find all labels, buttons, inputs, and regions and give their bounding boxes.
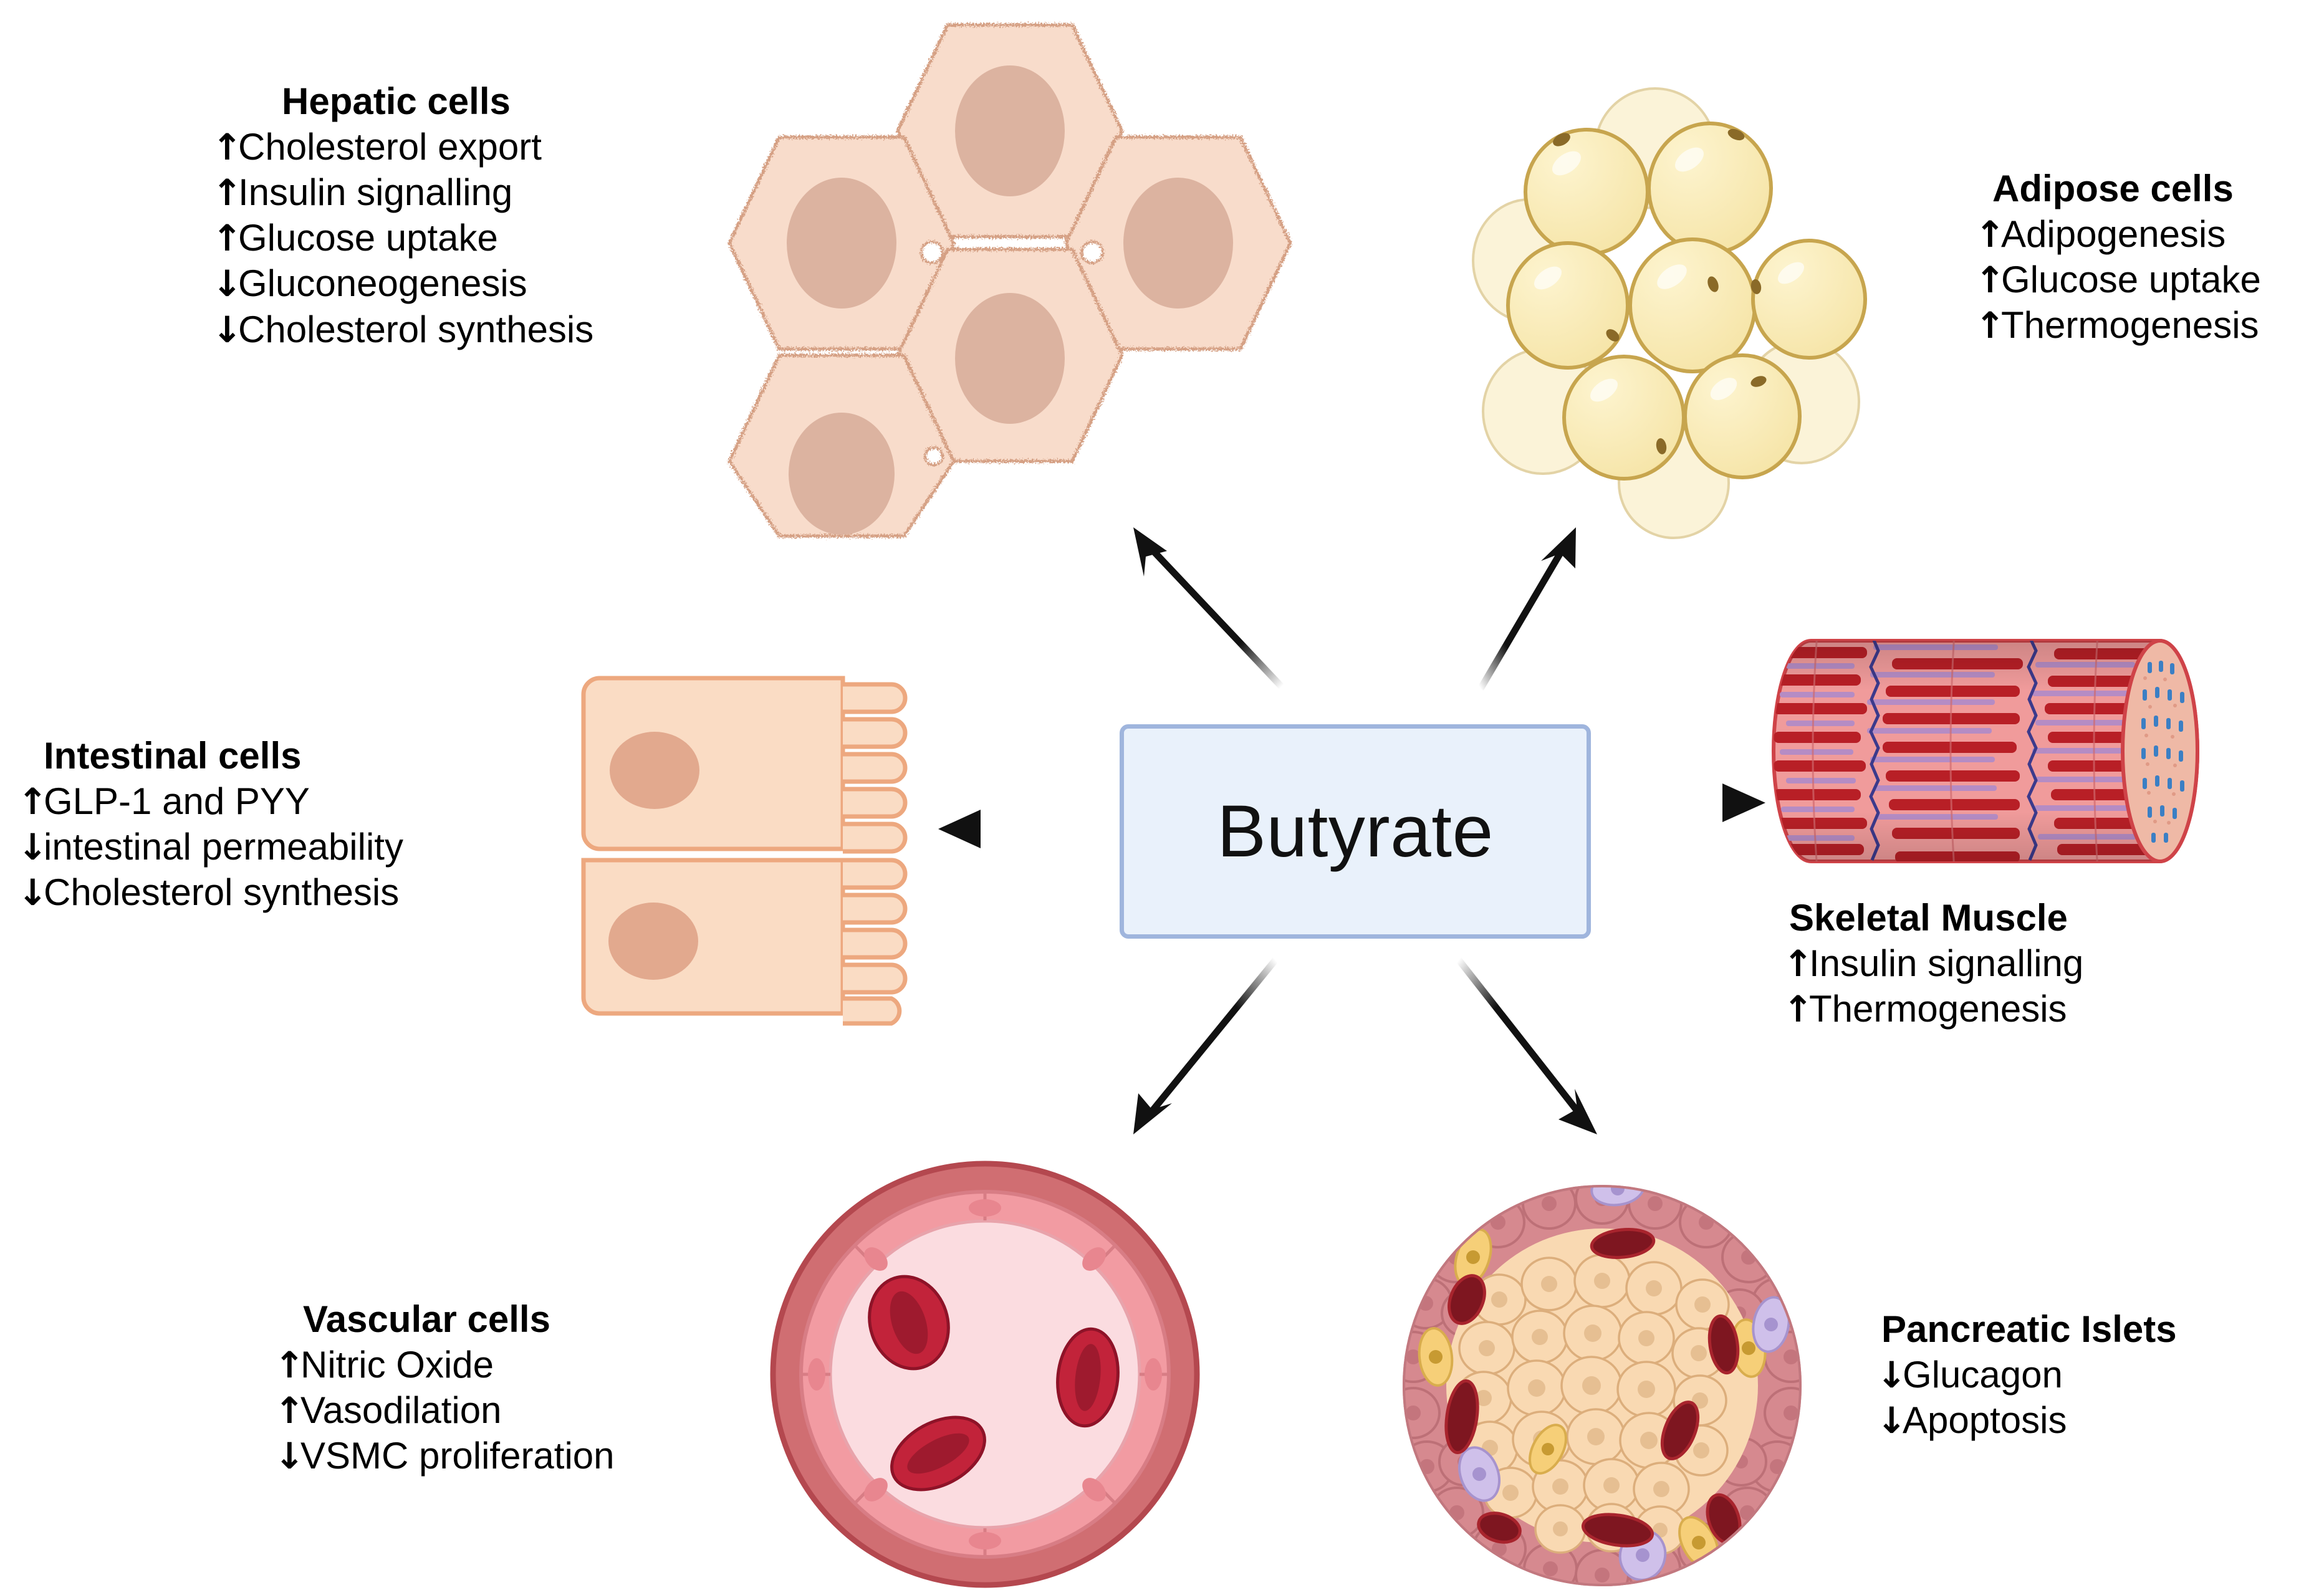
skeletal-item-1: ↑Thermogenesis (1783, 986, 2083, 1032)
arrow-up-icon: ↑ (1975, 262, 2001, 298)
adipose-item-2: ↑Thermogenesis (1975, 302, 2261, 348)
intestinal-item-1-label: intestinal permeability (44, 824, 403, 869)
hepatocytes-illustration (698, 12, 1359, 536)
adipose-item-1: ↑Glucose uptake (1975, 257, 2261, 302)
intestinal-item-2-label: Cholesterol synthesis (44, 869, 399, 915)
pancreatic-item-0: ↓Glucagon (1876, 1352, 2177, 1397)
muscle-fiber-illustration (1774, 630, 2222, 873)
vascular-item-1: ↑Vasodilation (274, 1387, 615, 1433)
arrow-up-icon: ↑ (1975, 216, 2001, 252)
panel-intestinal: Intestinal cells ↑GLP-1 and PYY ↓intesti… (17, 734, 403, 915)
pancreatic-item-1-label: Apoptosis (1903, 1397, 2067, 1443)
butyrate-label: Butyrate (1217, 789, 1493, 874)
arrow-up-icon: ↑ (1783, 946, 1809, 982)
vascular-item-0: ↑Nitric Oxide (274, 1342, 615, 1387)
arrow-down-icon: ↓ (212, 312, 238, 348)
intestinal-item-1: ↓intestinal permeability (17, 824, 403, 869)
hepatic-item-0: ↑Cholesterol export (212, 124, 593, 170)
arrow-down-icon: ↓ (17, 829, 44, 865)
adipocytes-illustration (1474, 100, 1898, 511)
arrow-to-hepatic (1133, 527, 1282, 687)
vascular-item-2: ↓VSMC proliferation (274, 1433, 615, 1478)
arrow-up-icon: ↑ (274, 1392, 300, 1429)
panel-vascular: Vascular cells ↑Nitric Oxide ↑Vasodilati… (274, 1298, 615, 1478)
arrow-down-icon: ↓ (1876, 1402, 1903, 1439)
arrow-up-icon: ↑ (212, 220, 238, 256)
pancreatic-islet-illustration (1400, 1181, 1805, 1589)
adipose-item-0-label: Adipogenesis (2001, 211, 2226, 257)
panel-skeletal: Skeletal Muscle ↑Insulin signalling ↑The… (1783, 896, 2083, 1032)
arrow-down-icon: ↓ (17, 874, 44, 911)
intestinal-item-0-label: GLP-1 and PYY (44, 778, 310, 824)
arrow-to-intestinal (938, 810, 1103, 848)
hepatic-item-2-label: Glucose uptake (238, 215, 498, 261)
panel-hepatic: Hepatic cells ↑Cholesterol export ↑Insul… (212, 80, 593, 352)
intestinal-item-2: ↓Cholesterol synthesis (17, 869, 403, 915)
intestinal-item-0: ↑GLP-1 and PYY (17, 778, 403, 824)
arrow-to-pancreatic (1459, 960, 1597, 1134)
vascular-item-1-label: Vasodilation (300, 1387, 501, 1433)
hepatic-item-3: ↓Gluconeogenesis (212, 261, 593, 306)
arrow-to-vascular (1133, 960, 1275, 1134)
arrow-to-adipose (1481, 527, 1576, 689)
arrow-up-icon: ↑ (212, 129, 238, 165)
arrow-up-icon: ↑ (17, 783, 44, 820)
hepatic-item-0-label: Cholesterol export (238, 124, 542, 170)
skeletal-item-0-label: Insulin signalling (1809, 941, 2083, 986)
hepatic-item-4-label: Cholesterol synthesis (238, 307, 593, 352)
hepatic-item-4: ↓Cholesterol synthesis (212, 307, 593, 352)
skeletal-item-1-label: Thermogenesis (1809, 986, 2067, 1032)
arrow-down-icon: ↓ (1876, 1357, 1903, 1393)
panel-adipose: Adipose cells ↑Adipogenesis ↑Glucose upt… (1975, 167, 2261, 348)
hepatic-item-2: ↑Glucose uptake (212, 215, 593, 261)
hepatic-item-1-label: Insulin signalling (238, 170, 512, 215)
enterocytes-illustration (574, 673, 935, 1035)
diagram-canvas: Butyrate Hepatic cells ↑Cholesterol expo… (0, 0, 2324, 1590)
vascular-item-0-label: Nitric Oxide (300, 1342, 494, 1387)
adipose-item-2-label: Thermogenesis (2001, 302, 2259, 348)
hepatic-title: Hepatic cells (212, 80, 593, 124)
arrow-up-icon: ↑ (1975, 307, 2001, 343)
arrow-to-skeletal (1599, 783, 1765, 822)
skeletal-item-0: ↑Insulin signalling (1783, 941, 2083, 986)
butyrate-node[interactable]: Butyrate (1120, 724, 1591, 939)
adipose-item-0: ↑Adipogenesis (1975, 211, 2261, 257)
vascular-item-2-label: VSMC proliferation (300, 1433, 615, 1478)
vascular-title: Vascular cells (274, 1298, 615, 1342)
arrow-up-icon: ↑ (274, 1347, 300, 1383)
skeletal-title: Skeletal Muscle (1783, 896, 2083, 941)
arrow-up-icon: ↑ (1783, 991, 1809, 1027)
blood-vessel-cross-section-illustration (767, 1159, 1203, 1589)
panel-pancreatic: Pancreatic Islets ↓Glucagon ↓Apoptosis (1876, 1308, 2177, 1443)
arrow-down-icon: ↓ (212, 266, 238, 302)
adipose-item-1-label: Glucose uptake (2001, 257, 2261, 302)
arrow-up-icon: ↑ (212, 175, 238, 211)
pancreatic-item-1: ↓Apoptosis (1876, 1397, 2177, 1443)
adipose-title: Adipose cells (1975, 167, 2261, 211)
hepatic-item-1: ↑Insulin signalling (212, 170, 593, 215)
arrow-down-icon: ↓ (274, 1438, 300, 1474)
intestinal-title: Intestinal cells (17, 734, 403, 778)
pancreatic-title: Pancreatic Islets (1876, 1308, 2177, 1352)
hepatic-item-3-label: Gluconeogenesis (238, 261, 527, 306)
pancreatic-item-0-label: Glucagon (1903, 1352, 2063, 1397)
